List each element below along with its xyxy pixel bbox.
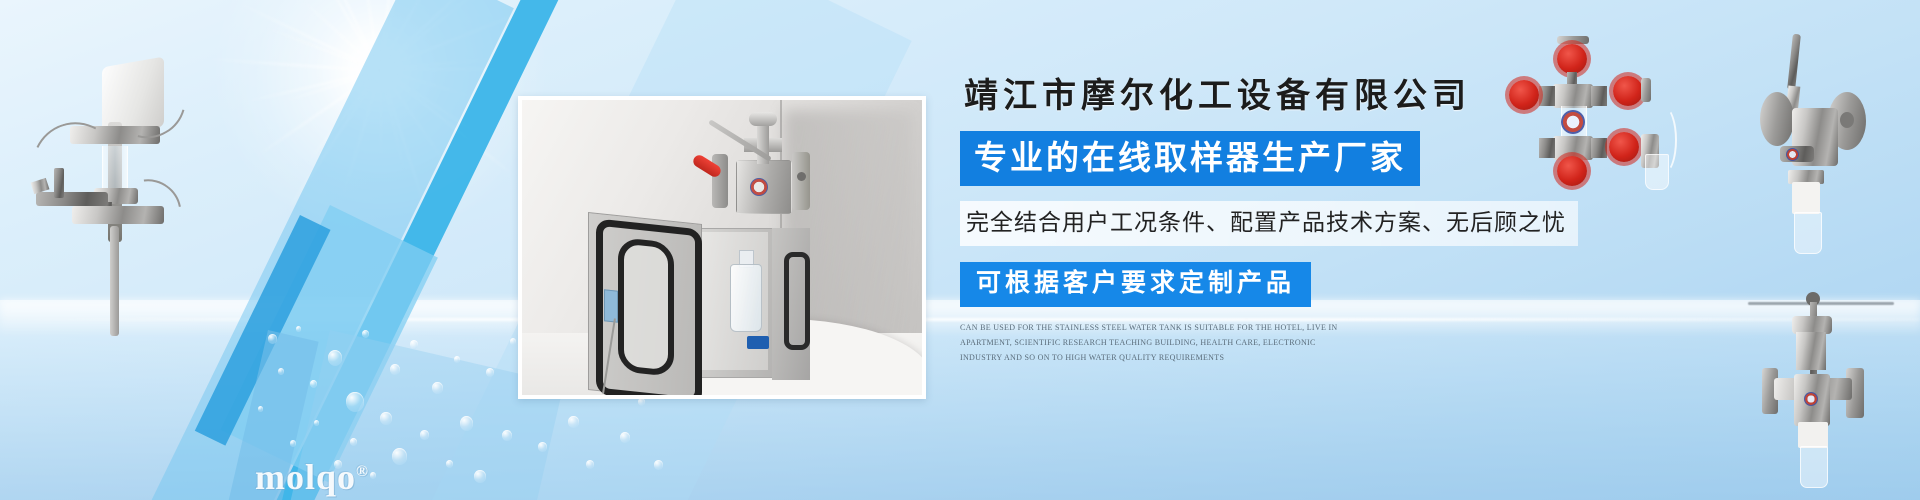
banner-subline: 完全结合用户工况条件、配置产品技术方案、无后顾之忧 (960, 201, 1578, 246)
water-droplet-icon (268, 334, 277, 344)
english-description: CAN BE USED FOR THE STAINLESS STEEL WATE… (960, 321, 1360, 365)
promo-banner: 靖江市摩尔化工设备有限公司 专业的在线取样器生产厂家 完全结合用户工况条件、配置… (0, 0, 1920, 500)
water-droplet-icon (460, 416, 473, 431)
water-droplet-icon (620, 432, 630, 443)
product-flanged-lever-valve (1750, 30, 1920, 270)
water-droplet-icon (392, 448, 407, 465)
water-droplet-icon (586, 460, 594, 469)
water-droplet-icon (486, 368, 494, 377)
water-droplet-icon (370, 472, 376, 479)
water-droplet-icon (474, 470, 486, 483)
water-droplet-icon (454, 356, 460, 363)
water-droplet-icon (350, 438, 357, 446)
product-cross-valve-manifold (1505, 28, 1735, 193)
water-droplet-icon (278, 368, 284, 375)
water-droplet-icon (638, 398, 645, 406)
water-droplet-icon (568, 416, 579, 428)
water-droplet-icon (446, 460, 453, 468)
hero-product-photo (518, 96, 926, 399)
water-droplet-icon (258, 406, 263, 412)
banner-text-block: 靖江市摩尔化工设备有限公司 专业的在线取样器生产厂家 完全结合用户工况条件、配置… (960, 68, 1600, 365)
brand-watermark: molqo® (255, 456, 369, 498)
water-droplet-icon (380, 412, 392, 425)
water-droplet-icon (290, 440, 296, 447)
water-droplet-icon (346, 392, 364, 412)
water-droplet-icon (510, 338, 516, 345)
headline-primary: 专业的在线取样器生产厂家 (960, 131, 1420, 186)
water-droplet-icon (538, 442, 547, 452)
headline-secondary: 可根据客户要求定制产品 (960, 262, 1311, 307)
water-droplet-icon (654, 460, 663, 470)
product-flanged-handwheel-valve (1750, 282, 1920, 497)
water-droplet-icon (410, 340, 418, 349)
water-droplet-icon (314, 420, 319, 426)
water-droplet-icon (362, 330, 369, 338)
watermark-text: molqo (255, 457, 356, 497)
water-droplet-icon (432, 382, 443, 394)
water-droplet-icon (310, 380, 317, 388)
water-droplet-icon (420, 430, 429, 440)
water-droplet-icon (296, 326, 301, 332)
water-droplet-icon (390, 364, 400, 375)
water-droplet-icon (502, 430, 512, 441)
registered-mark-icon: ® (356, 463, 369, 480)
product-sampler-probe-assembly (10, 30, 190, 330)
water-droplet-icon (328, 350, 342, 366)
